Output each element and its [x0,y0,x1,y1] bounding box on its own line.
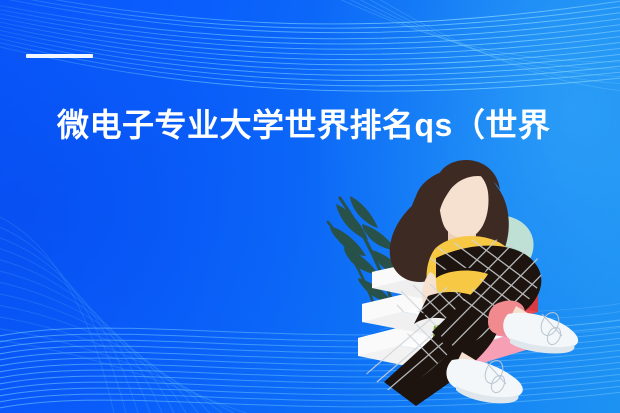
woman-sitting-on-books-illustration [310,138,620,413]
shoe-back [446,358,522,404]
background-shade-left [0,20,340,413]
title-underline-rule [26,54,93,58]
article-cover-banner: 微电子专业大学世界排名qs（世界 [0,0,620,413]
